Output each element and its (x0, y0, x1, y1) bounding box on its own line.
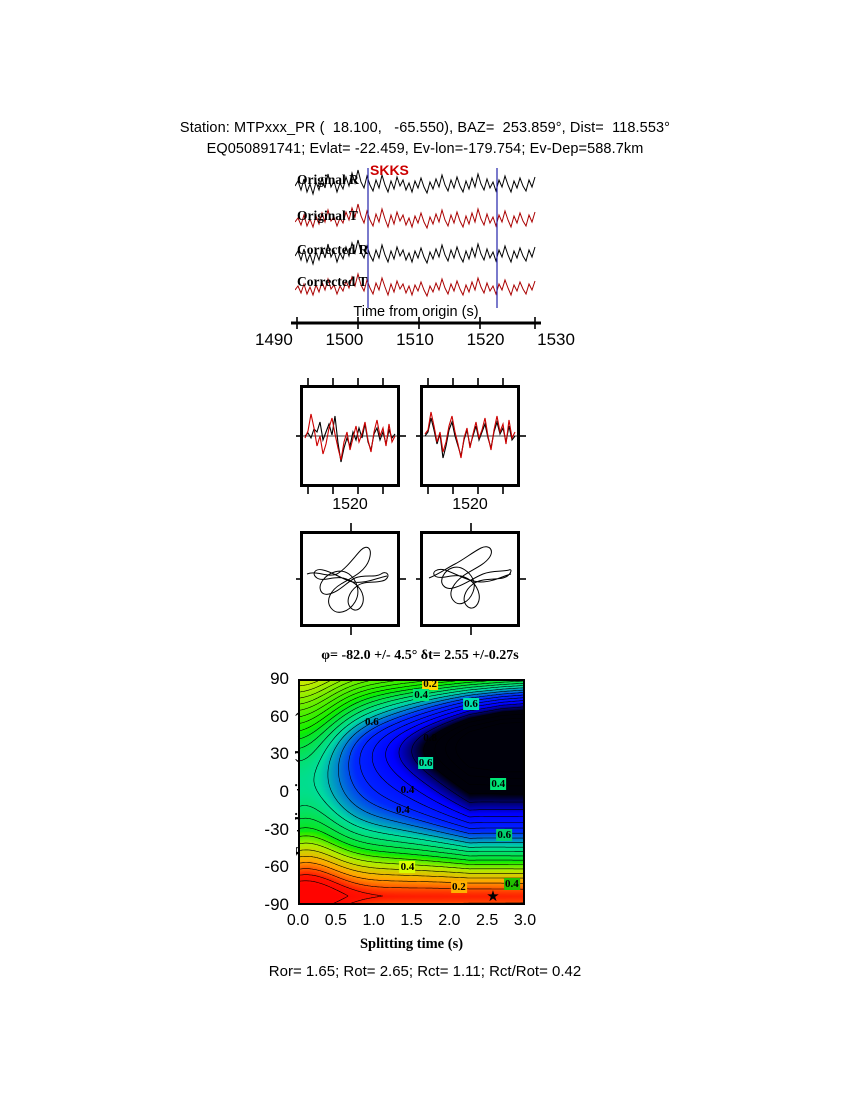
contour-plot-title: φ= -82.0 +/- 4.5° δt= 2.55 +/-0.27s (190, 648, 650, 664)
contour-line (300, 681, 525, 869)
contour-line (412, 707, 525, 803)
contour-y-tick: -90 (264, 895, 289, 915)
trace-label-corrected-r: Corrected R (297, 242, 368, 258)
event-info-line: EQ050891741; Evlat= -22.459, Ev-lon=-179… (0, 139, 850, 160)
particle-motion-after (420, 531, 520, 627)
time-tick: 1520 (467, 330, 505, 350)
time-tick: 1500 (326, 330, 364, 350)
contour-label: 0.4 (490, 778, 506, 790)
slow-trace (425, 412, 515, 458)
contour-field: 0.20.40.60.60.80.60.40.40.40.60.40.20.4 … (298, 679, 525, 905)
contour-line (300, 681, 525, 865)
contour-x-tick: 0.0 (287, 912, 309, 930)
contour-label: 0.4 (395, 804, 411, 816)
figure-header: Station: MTPxxx_PR ( 18.100, -65.550), B… (0, 118, 850, 160)
time-tick: 1530 (537, 330, 575, 350)
time-axis-ticks: 1490 1500 1510 1520 1530 (255, 330, 575, 350)
contour-label: 0.4 (413, 689, 429, 701)
contour-x-tick: 2.5 (476, 912, 498, 930)
skks-phase-label: SKKS (370, 162, 409, 178)
wave-panel-original (420, 385, 520, 487)
contour-x-axis-label: Splitting time (s) (298, 936, 525, 953)
trace-label-original-r: Original R (297, 172, 359, 188)
wave-panel-2-tick-label: 1520 (420, 496, 520, 514)
seismogram-traces (295, 168, 537, 313)
contour-label: 0.6 (364, 716, 380, 728)
contour-y-tick: 60 (270, 707, 289, 727)
quality-metrics-footer: Ror= 1.65; Rot= 2.65; Rct= 1.11; Rct/Rot… (0, 963, 850, 980)
contour-line (300, 681, 383, 905)
contour-x-tick: 1.0 (363, 912, 385, 930)
contour-y-tick: -30 (264, 820, 289, 840)
contour-line (300, 683, 525, 852)
contour-label: 0.4 (504, 878, 520, 890)
particle-motion-after-path (423, 534, 517, 624)
particle-motion-before-path (303, 534, 397, 624)
contour-label: 0.6 (463, 698, 479, 710)
contour-line (360, 695, 525, 829)
contour-line (435, 714, 525, 786)
contour-label: 0.6 (418, 757, 434, 769)
particle-motion-before (300, 531, 400, 627)
contour-line (386, 700, 525, 817)
contour-x-tick: 2.0 (438, 912, 460, 930)
fast-trace (305, 416, 395, 462)
trace-label-original-t: Original T (297, 208, 358, 224)
contour-x-tick: 1.5 (400, 912, 422, 930)
contour-y-tick: 30 (270, 744, 289, 764)
contour-y-tick: -60 (264, 857, 289, 877)
contour-line (456, 722, 525, 772)
optimum-marker-star: ★ (486, 889, 499, 904)
figure-page: Station: MTPxxx_PR ( 18.100, -65.550), B… (0, 0, 850, 1100)
trace-label-corrected-t: Corrected T (297, 274, 367, 290)
time-axis-title: Time from origin (s) (295, 304, 537, 320)
contour-label: 0.2 (451, 881, 467, 893)
contour-y-tick: 0 (280, 782, 289, 802)
contour-y-tick: 90 (270, 669, 289, 689)
contour-x-tick: 3.0 (514, 912, 536, 930)
wave-panel-corrected-traces (303, 388, 397, 484)
wave-panel-original-traces (423, 388, 517, 484)
contour-label: 0.6 (496, 829, 512, 841)
time-tick: 1510 (396, 330, 434, 350)
wave-panel-1-tick-label: 1520 (300, 496, 400, 514)
station-info-line: Station: MTPxxx_PR ( 18.100, -65.550), B… (0, 118, 850, 139)
contour-label: 0.8 (422, 732, 438, 744)
contour-x-tick: 0.5 (325, 912, 347, 930)
contour-label: 0.4 (400, 784, 416, 796)
wave-panel-corrected (300, 385, 400, 487)
record-section: SKKS Original R Original T Corrected R C… (295, 168, 537, 313)
contour-label: 0.4 (400, 861, 416, 873)
error-surface-plot: Fast direction (degree) 90 60 30 0 -30 -… (298, 679, 525, 905)
time-tick: 1490 (255, 330, 293, 350)
